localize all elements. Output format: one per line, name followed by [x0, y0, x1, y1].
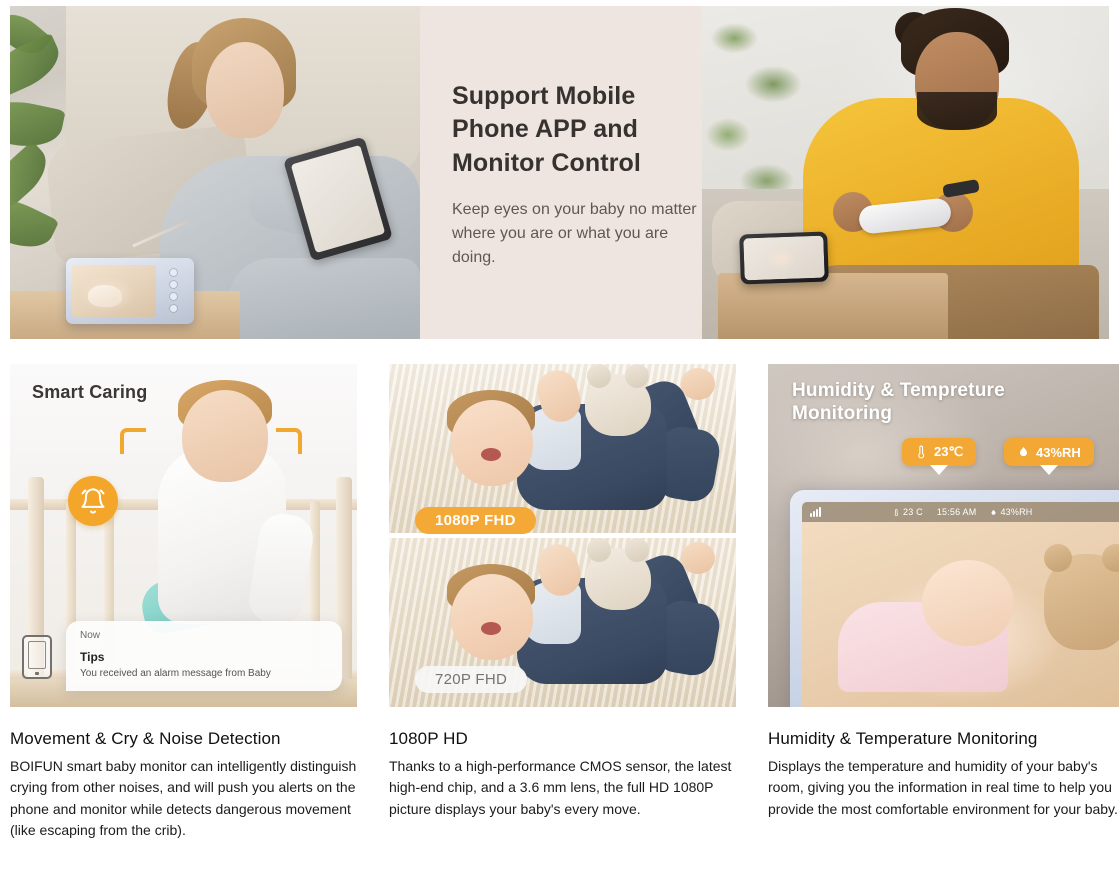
- caption-body: BOIFUN smart baby monitor can intelligen…: [10, 756, 357, 841]
- caption-humidity-temperature: Humidity & Temperature Monitoring Displa…: [768, 728, 1119, 841]
- monitor-screen: 23 C 15:56 AM 43%RH: [802, 502, 1119, 707]
- droplet-icon: [1017, 444, 1030, 460]
- caption-1080p-hd: 1080P HD Thanks to a high-performance CM…: [389, 728, 736, 841]
- caption-body: Displays the temperature and humidity of…: [768, 756, 1119, 820]
- smart-caring-overlay-title: Smart Caring: [32, 382, 147, 403]
- monitor-screen: [72, 265, 156, 317]
- baby-head: [182, 390, 268, 482]
- toast-title: Tips: [80, 650, 328, 664]
- plant-leaf: [10, 94, 66, 154]
- baby-mouth: [481, 448, 501, 461]
- baby-monitor-device: 23 C 15:56 AM 43%RH: [790, 490, 1119, 707]
- hero-banner: Support Mobile Phone APP and Monitor Con…: [10, 6, 1109, 339]
- callout-humidity: 43%RH: [1004, 438, 1094, 466]
- monitor-buttons: [160, 269, 186, 313]
- hero-photo-right: [702, 6, 1109, 339]
- feature-panel-resolution: 1080P FHD 720P FHD: [389, 364, 736, 707]
- badge-720p: 720P FHD: [415, 666, 527, 693]
- toast-timestamp: Now: [80, 630, 328, 641]
- humidity-monitoring-image: Humidity & Tempreture Monitoring 23℃ 43%…: [768, 364, 1119, 707]
- humidity-overlay-title: Humidity & Tempreture Monitoring: [792, 380, 1052, 426]
- caption-title: Movement & Cry & Noise Detection: [10, 728, 357, 750]
- baby-monitor-device: [66, 258, 194, 324]
- hero-title: Support Mobile Phone APP and Monitor Con…: [452, 80, 702, 180]
- smart-caring-image: Smart Caring: [10, 364, 357, 707]
- thermometer-icon: [893, 508, 900, 517]
- focus-bracket-top-right: [276, 428, 302, 454]
- feature-figures-row: Smart Caring: [10, 364, 1119, 707]
- smartphone-device: [739, 231, 829, 284]
- plush-toy: [585, 374, 651, 436]
- woman-legs: [228, 258, 420, 339]
- teddy-bear: [1044, 554, 1119, 650]
- baby-head: [451, 400, 533, 486]
- baby-foot: [681, 368, 715, 400]
- hero-text-panel: Support Mobile Phone APP and Monitor Con…: [420, 6, 702, 339]
- feature-panel-humidity: Humidity & Tempreture Monitoring 23℃ 43%…: [768, 364, 1119, 707]
- status-temperature-value: 23 C: [903, 507, 923, 517]
- baby-foot: [681, 542, 715, 574]
- caption-title: Humidity & Temperature Monitoring: [768, 728, 1119, 750]
- signal-bars-icon: [810, 507, 821, 517]
- status-time: 15:56 AM: [937, 507, 977, 517]
- feature-captions-row: Movement & Cry & Noise Detection BOIFUN …: [10, 728, 1119, 841]
- phone-icon: [22, 635, 52, 679]
- baby-head: [451, 574, 533, 660]
- baby-mouth: [481, 622, 501, 635]
- product-feature-page: Support Mobile Phone APP and Monitor Con…: [0, 0, 1119, 880]
- status-humidity: 43%RH: [990, 507, 1032, 517]
- callout-temperature-value: 23℃: [934, 444, 963, 460]
- bell-icon: [68, 476, 118, 526]
- caption-body: Thanks to a high-performance CMOS sensor…: [389, 756, 736, 820]
- monitor-status-bar: 23 C 15:56 AM 43%RH: [802, 502, 1119, 522]
- focus-bracket-top-left: [120, 428, 146, 454]
- status-humidity-value: 43%RH: [1000, 507, 1032, 517]
- plush-toy: [585, 548, 651, 610]
- droplet-icon: [990, 508, 997, 517]
- man-beard: [917, 92, 997, 130]
- hero-subtitle: Keep eyes on your baby no matter where y…: [452, 198, 702, 270]
- feature-panel-smart-caring: Smart Caring: [10, 364, 357, 707]
- toast-message: You received an alarm message from Baby: [80, 667, 328, 681]
- caption-movement-detection: Movement & Cry & Noise Detection BOIFUN …: [10, 728, 357, 841]
- resolution-comparison-image: 1080P FHD 720P FHD: [389, 364, 736, 707]
- caption-title: 1080P HD: [389, 728, 736, 750]
- thermometer-icon: [915, 444, 928, 460]
- baby-head: [922, 560, 1014, 646]
- callout-humidity-value: 43%RH: [1036, 445, 1081, 460]
- notification-toast: Now Tips You received an alarm message f…: [66, 621, 342, 692]
- badge-1080p: 1080P FHD: [415, 507, 536, 534]
- hero-photo-left: [10, 6, 420, 339]
- woman-head: [206, 42, 284, 138]
- status-temperature: 23 C: [893, 507, 923, 517]
- callout-temperature: 23℃: [902, 438, 976, 466]
